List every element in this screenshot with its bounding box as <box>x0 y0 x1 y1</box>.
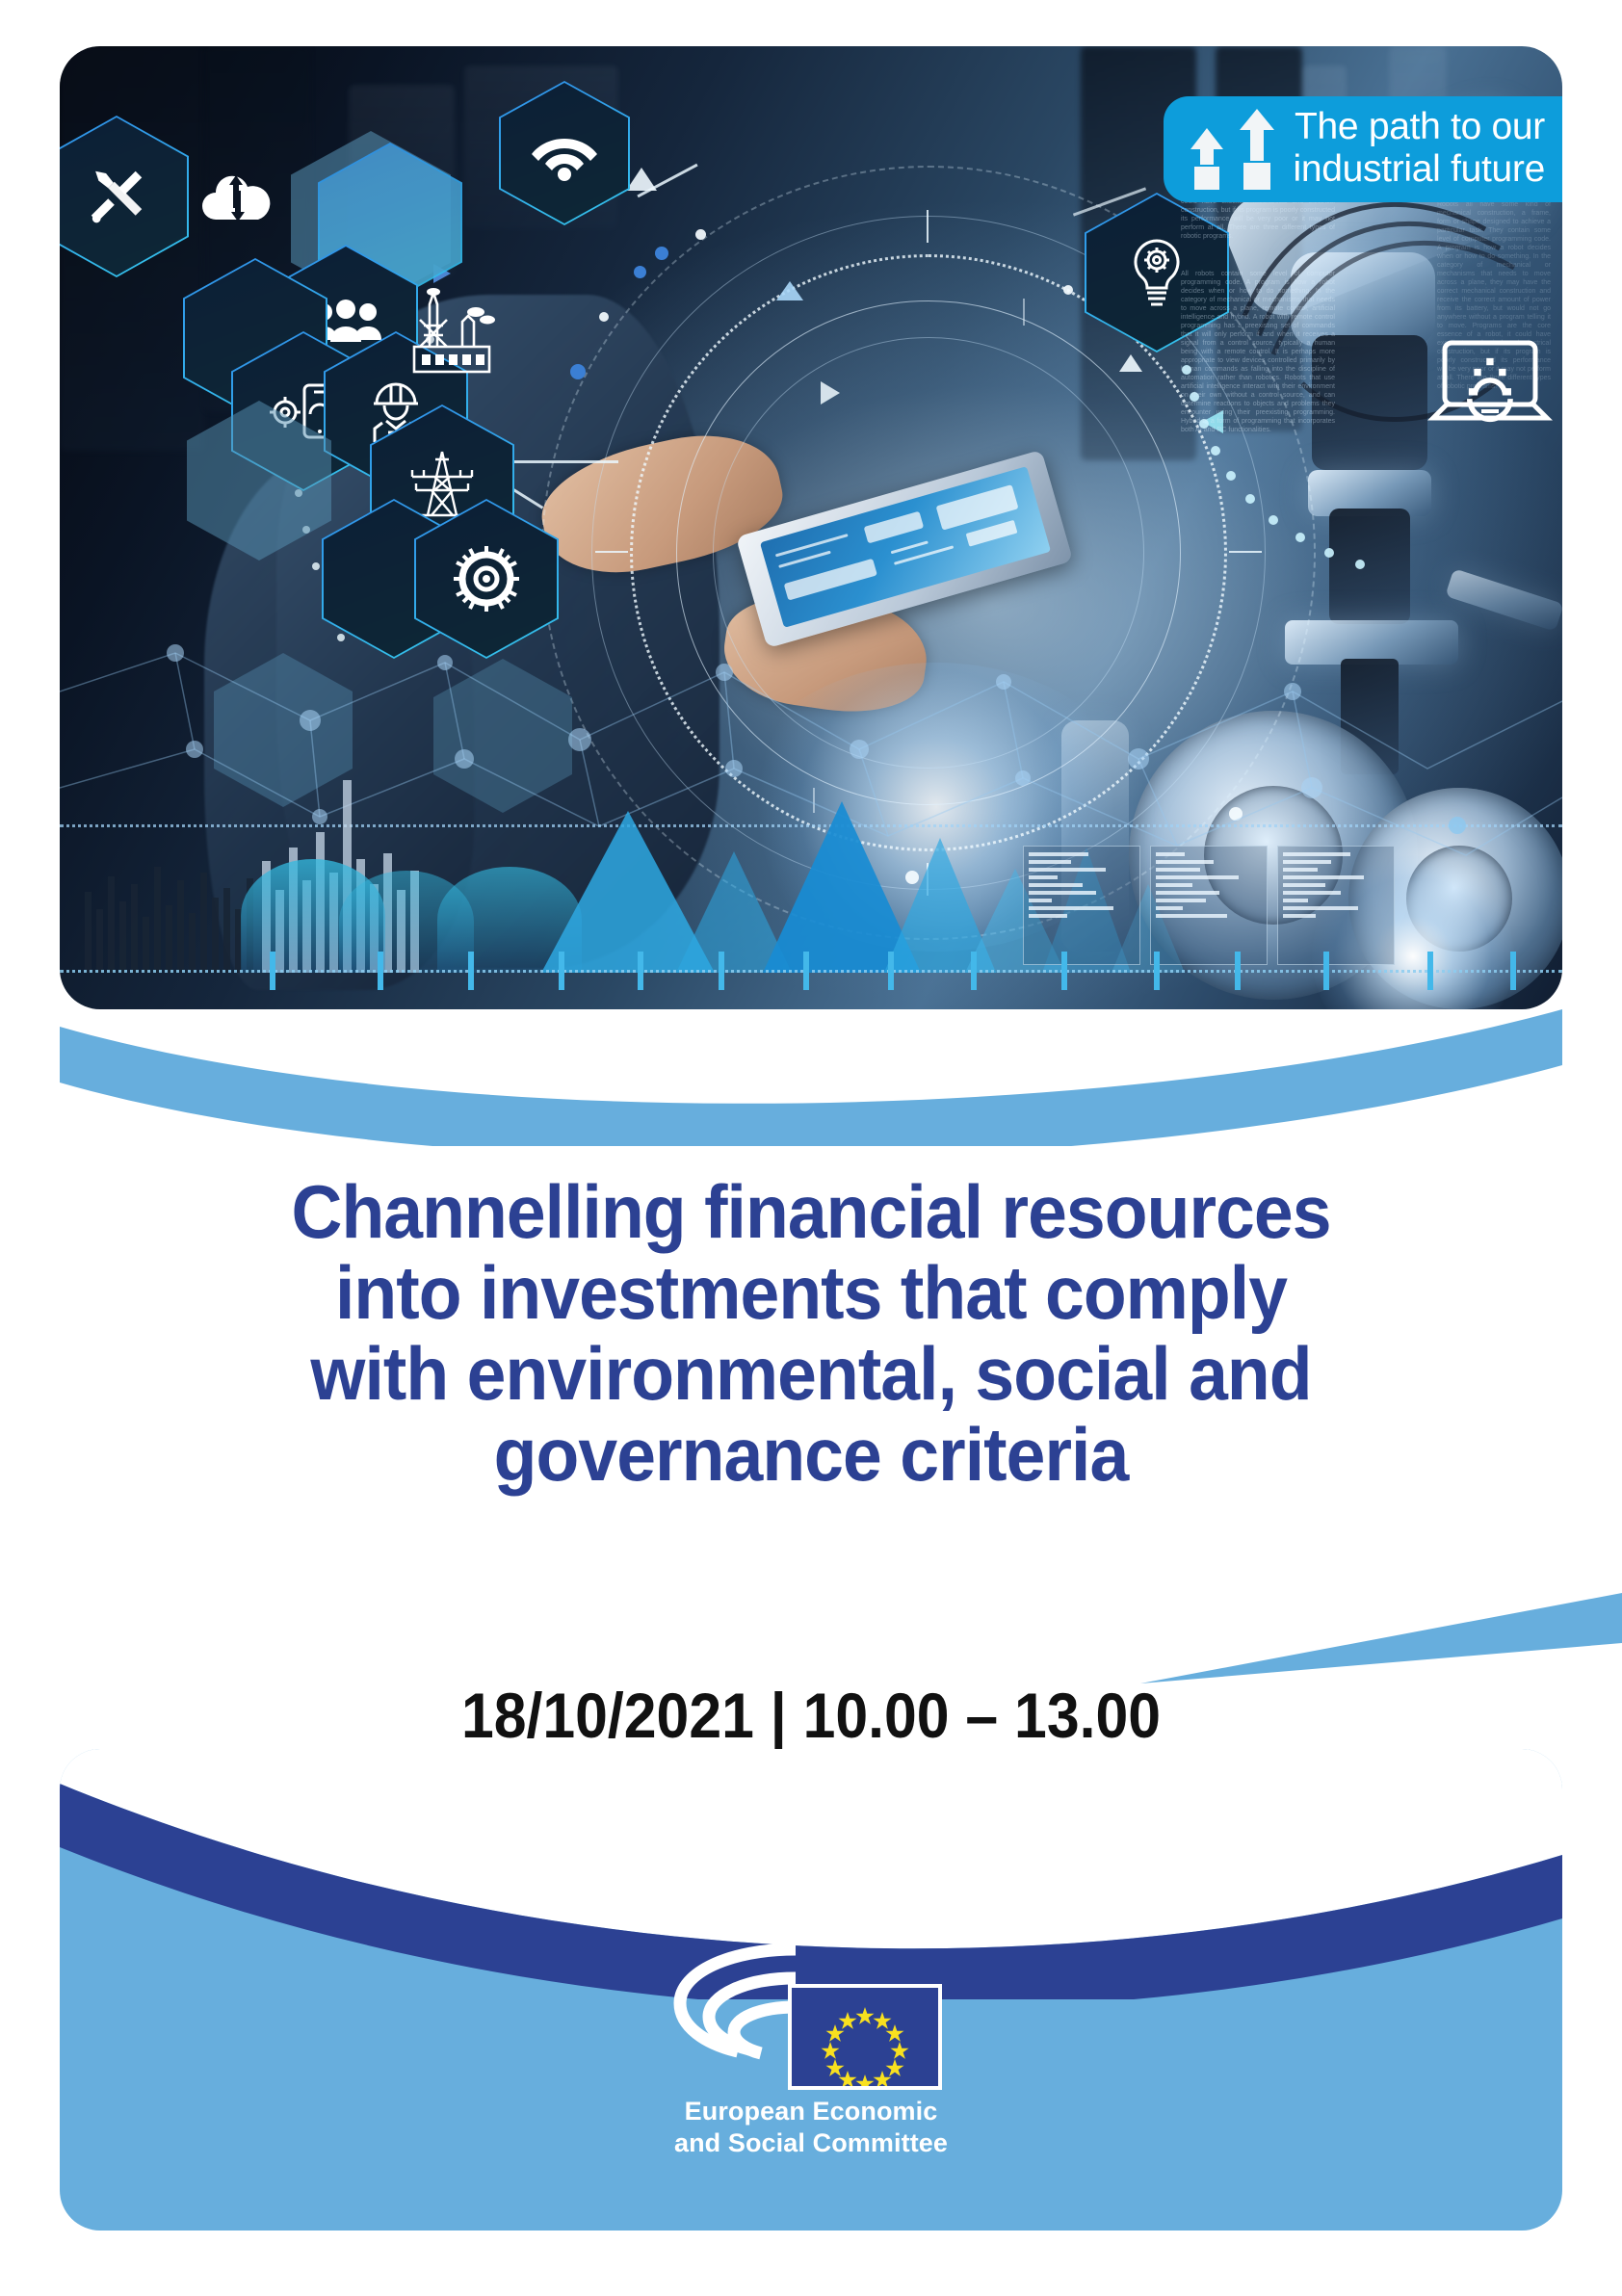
viz-panel <box>1277 846 1395 965</box>
factory-icon <box>405 287 497 379</box>
badge-text: The path to our industrial future <box>1293 106 1545 191</box>
footer-panel: European Economic and Social Committee <box>60 1749 1562 2231</box>
eesc-name-line-1: European Economic <box>609 2096 1013 2127</box>
eesc-logo: European Economic and Social Committee <box>609 1940 1013 2159</box>
arrow-up-large-icon <box>1235 107 1279 190</box>
badge-line-1: The path to our <box>1295 106 1545 147</box>
eesc-organisation-name: European Economic and Social Committee <box>609 2096 1013 2159</box>
hero-doc-text-2: All robots contain some level of compute… <box>1181 270 1335 549</box>
arrow-up-small-icon <box>1187 126 1227 190</box>
hero-data-visualisation: © shutterstock <box>60 749 1562 1009</box>
viz-panel <box>1023 846 1140 965</box>
campaign-badge: The path to our industrial future <box>1164 96 1562 202</box>
title-line-1: Channelling financial resources <box>169 1171 1454 1252</box>
title-line-2: into investments that comply <box>169 1252 1454 1333</box>
laptop-gear-icon <box>1427 335 1553 439</box>
event-datetime: 18/10/2021 | 10.00 – 13.00 <box>279 1681 1343 1750</box>
wedge-accent-right <box>1083 1570 1622 1685</box>
eesc-name-line-2: and Social Committee <box>609 2127 1013 2159</box>
page-title: Channelling financial resources into inv… <box>169 1171 1454 1495</box>
eu-flag <box>788 1984 942 2090</box>
title-line-3: with environmental, social and <box>169 1333 1454 1414</box>
title-line-4: governance criteria <box>169 1414 1454 1495</box>
viz-panel <box>1150 846 1268 965</box>
cloud-sync-icon <box>195 168 279 227</box>
wifi-icon <box>530 125 599 181</box>
badge-line-2: industrial future <box>1293 148 1545 190</box>
cog-icon <box>452 544 521 613</box>
badge-arrows <box>1187 107 1279 190</box>
tools-wrench-screwdriver-icon <box>83 163 150 230</box>
eu-stars-icon <box>792 1988 938 2086</box>
eesc-logo-mark <box>638 1940 984 2084</box>
poster-root: Robots all have some kind of mechanical … <box>0 0 1622 2296</box>
photo-watermark: © shutterstock <box>60 753 65 921</box>
swoosh-divider-top <box>0 973 1622 1146</box>
